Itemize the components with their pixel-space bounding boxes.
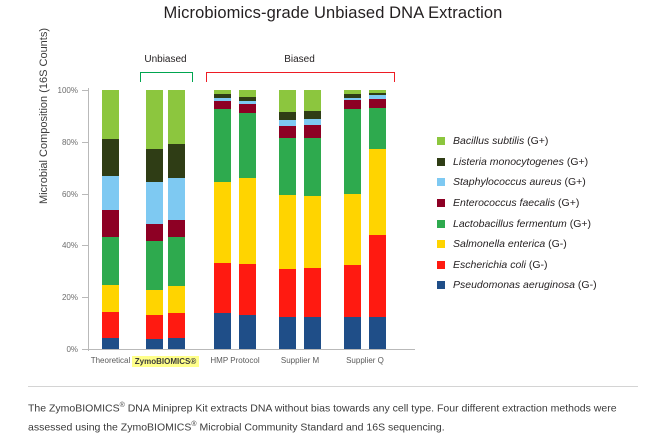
bar-segment <box>146 339 163 349</box>
legend-species-name: Lactobacillus fermentum <box>453 218 567 230</box>
legend-species-name: Bacillus subtilis <box>453 135 524 147</box>
chart-figure: Microbiomics-grade Unbiased DNA Extracti… <box>0 0 666 435</box>
bar-segment <box>304 196 321 269</box>
bar-segment <box>239 113 256 178</box>
legend-gram-tag: (G+) <box>524 135 548 147</box>
stacked-bar <box>214 90 231 349</box>
legend-gram-tag: (G-) <box>526 259 548 271</box>
bar-segment <box>102 210 119 237</box>
bar-segment <box>146 224 163 241</box>
bar-segment <box>304 90 321 110</box>
bar-segment <box>369 108 386 149</box>
bar-segment <box>168 178 185 219</box>
bar-segment <box>279 195 296 269</box>
stacked-bar <box>239 90 256 349</box>
legend-item[interactable]: Listeria monocytogenes (G+) <box>437 152 663 173</box>
legend-color-swatch <box>437 281 445 289</box>
x-axis-line <box>88 349 415 350</box>
caption-text-a: The ZymoBIOMICS <box>28 403 120 415</box>
bar-segment <box>344 100 361 109</box>
bar-segment <box>344 317 361 349</box>
legend-item-label: Lactobacillus fermentum (G+) <box>453 218 591 230</box>
legend-gram-tag: (G+) <box>562 176 586 188</box>
bar-segment <box>168 286 185 312</box>
y-axis-title: Microbial Composition (16S Counts) <box>38 0 50 246</box>
bar-segment <box>214 182 231 263</box>
bar-segment <box>214 109 231 182</box>
y-tick-mark <box>82 349 88 350</box>
bar-segment <box>146 241 163 290</box>
stacked-bar <box>304 90 321 349</box>
legend-item[interactable]: Escherichia coli (G-) <box>437 255 663 276</box>
bar-segment <box>168 90 185 144</box>
legend-gram-tag: (G-) <box>575 279 597 291</box>
bracket-green <box>140 72 193 82</box>
bar-segment <box>369 317 386 349</box>
figure-caption: The ZymoBIOMICS® DNA Miniprep Kit extrac… <box>28 398 640 435</box>
chart-title: Microbiomics-grade Unbiased DNA Extracti… <box>0 4 666 23</box>
legend-item-label: Bacillus subtilis (G+) <box>453 135 548 147</box>
legend-color-swatch <box>437 199 445 207</box>
bar-segment <box>279 269 296 317</box>
x-axis-label: HMP Protocol <box>210 356 259 365</box>
bar-segment <box>168 220 185 238</box>
legend-gram-tag: (G+) <box>555 197 579 209</box>
legend-item-label: Listeria monocytogenes (G+) <box>453 156 588 168</box>
bar-segment <box>304 138 321 196</box>
caption-text-c: Microbial Community Standard and 16S seq… <box>197 421 445 433</box>
bar-segment <box>146 90 163 149</box>
bar-segment <box>168 313 185 338</box>
legend-color-swatch <box>437 137 445 145</box>
bracket-label: Unbiased <box>144 54 186 65</box>
legend-item-label: Escherichia coli (G-) <box>453 259 548 271</box>
bar-segment <box>344 109 361 193</box>
bar-segment <box>239 90 256 97</box>
legend-item[interactable]: Staphylococcus aureus (G+) <box>437 172 663 193</box>
bar-segment <box>369 99 386 108</box>
legend-gram-tag: (G+) <box>564 156 588 168</box>
plot-area <box>92 90 412 349</box>
bar-segment <box>102 176 119 211</box>
bar-segment <box>214 313 231 349</box>
bar-segment <box>102 237 119 285</box>
legend-color-swatch <box>437 220 445 228</box>
bar-segment <box>279 126 296 138</box>
bar-segment <box>214 263 231 313</box>
bar-segment <box>304 268 321 317</box>
bar-segment <box>146 315 163 339</box>
y-tick-mark <box>82 245 88 246</box>
stacked-bar <box>369 90 386 349</box>
bar-segment <box>239 178 256 265</box>
legend-species-name: Enterococcus faecalis <box>453 197 555 209</box>
bar-segment <box>279 317 296 349</box>
legend: Bacillus subtilis (G+)Listeria monocytog… <box>437 131 663 296</box>
bar-segment <box>304 111 321 120</box>
legend-gram-tag: (G-) <box>545 238 567 250</box>
legend-item-label: Enterococcus faecalis (G+) <box>453 197 579 209</box>
bar-segment <box>304 317 321 349</box>
y-tick-mark <box>82 297 88 298</box>
x-axis-label: Supplier M <box>281 356 319 365</box>
bar-segment <box>344 265 361 317</box>
legend-item[interactable]: Lactobacillus fermentum (G+) <box>437 213 663 234</box>
x-axis-label: ZymoBIOMICS® <box>132 356 199 367</box>
legend-item-label: Pseudomonas aeruginosa (G-) <box>453 279 597 291</box>
bar-segment <box>344 194 361 265</box>
bracket-label: Biased <box>284 54 315 65</box>
legend-species-name: Escherichia coli <box>453 259 526 271</box>
legend-species-name: Salmonella enterica <box>453 238 545 250</box>
bar-segment <box>304 125 321 137</box>
legend-color-swatch <box>437 178 445 186</box>
y-tick-label: 20% <box>36 293 78 302</box>
bar-segment <box>146 149 163 182</box>
bar-segment <box>168 338 185 349</box>
y-tick-mark <box>82 194 88 195</box>
bar-segment <box>279 90 296 111</box>
stacked-bar <box>146 90 163 349</box>
bar-segment <box>102 285 119 312</box>
legend-item-label: Salmonella enterica (G-) <box>453 238 567 250</box>
bar-segment <box>102 338 119 349</box>
bar-segment <box>146 290 163 315</box>
legend-species-name: Pseudomonas aeruginosa <box>453 279 575 291</box>
bar-segment <box>102 139 119 176</box>
bar-segment <box>239 315 256 349</box>
bar-segment <box>369 149 386 236</box>
bar-segment <box>279 138 296 195</box>
legend-species-name: Staphylococcus aureus <box>453 176 562 188</box>
legend-gram-tag: (G+) <box>567 218 591 230</box>
y-tick-mark <box>82 142 88 143</box>
legend-item[interactable]: Pseudomonas aeruginosa (G-) <box>437 275 663 296</box>
bar-segment <box>214 101 231 109</box>
legend-species-name: Listeria monocytogenes <box>453 156 564 168</box>
legend-item[interactable]: Bacillus subtilis (G+) <box>437 131 663 152</box>
bar-segment <box>239 264 256 315</box>
stacked-bar <box>168 90 185 349</box>
bar-segment <box>279 112 296 121</box>
bar-segment <box>146 182 163 224</box>
x-axis-label: Theoretical <box>91 356 131 365</box>
caption-divider <box>28 386 638 387</box>
stacked-bar <box>344 90 361 349</box>
bar-segment <box>102 90 119 139</box>
bar-segment <box>102 312 119 338</box>
bar-segment <box>239 104 256 113</box>
legend-color-swatch <box>437 158 445 166</box>
bar-segment <box>369 235 386 317</box>
legend-item-label: Staphylococcus aureus (G+) <box>453 176 586 188</box>
stacked-bar <box>102 90 119 349</box>
y-axis-line <box>88 88 89 351</box>
y-tick-mark <box>82 90 88 91</box>
bracket-red <box>206 72 395 82</box>
bar-segment <box>168 237 185 286</box>
legend-color-swatch <box>437 261 445 269</box>
x-axis-label: Supplier Q <box>346 356 384 365</box>
y-tick-label: 0% <box>36 345 78 354</box>
stacked-bar <box>279 90 296 349</box>
legend-item[interactable]: Enterococcus faecalis (G+) <box>437 193 663 214</box>
bar-segment <box>168 144 185 178</box>
legend-color-swatch <box>437 240 445 248</box>
legend-item[interactable]: Salmonella enterica (G-) <box>437 234 663 255</box>
